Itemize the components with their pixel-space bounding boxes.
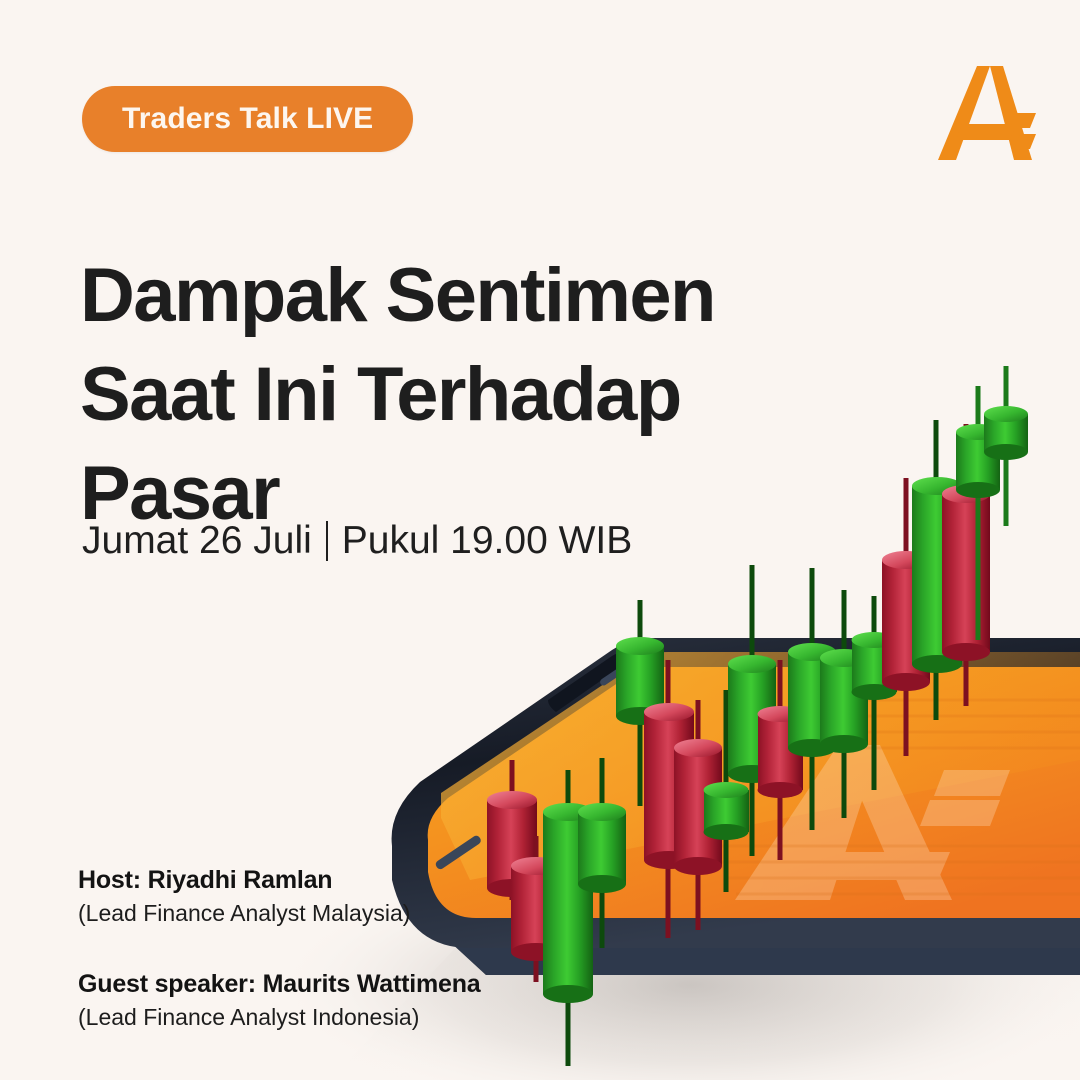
page-title: Dampak Sentimen Saat Ini Terhadap Pasar <box>80 247 840 543</box>
promo-poster: Traders Talk LIVE Dampak Sentimen Saat I… <box>0 0 1080 1080</box>
schedule-time: Pukul 19.00 WIB <box>342 519 632 563</box>
live-badge: Traders Talk LIVE <box>82 86 413 152</box>
credit-host-role: (Lead Finance Analyst Malaysia) <box>78 900 558 927</box>
live-badge-label: Traders Talk LIVE <box>122 102 373 136</box>
credits: Host: Riyadhi Ramlan (Lead Finance Analy… <box>78 866 558 1031</box>
credit-host-name: Host: Riyadhi Ramlan <box>78 866 558 895</box>
credit-guest-name: Guest speaker: Maurits Wattimena <box>78 970 558 999</box>
schedule-line: Jumat 26 Juli Pukul 19.00 WIB <box>82 519 632 563</box>
credit-guest: Guest speaker: Maurits Wattimena (Lead F… <box>78 970 558 1031</box>
credit-guest-role: (Lead Finance Analyst Indonesia) <box>78 1004 558 1031</box>
title-line-1: Dampak Sentimen <box>80 247 840 346</box>
schedule-separator <box>326 521 328 561</box>
axi-a-logo-icon <box>932 60 1036 168</box>
credit-host: Host: Riyadhi Ramlan (Lead Finance Analy… <box>78 866 558 927</box>
schedule-date: Jumat 26 Juli <box>82 519 312 563</box>
title-line-2: Saat Ini Terhadap <box>80 346 840 445</box>
